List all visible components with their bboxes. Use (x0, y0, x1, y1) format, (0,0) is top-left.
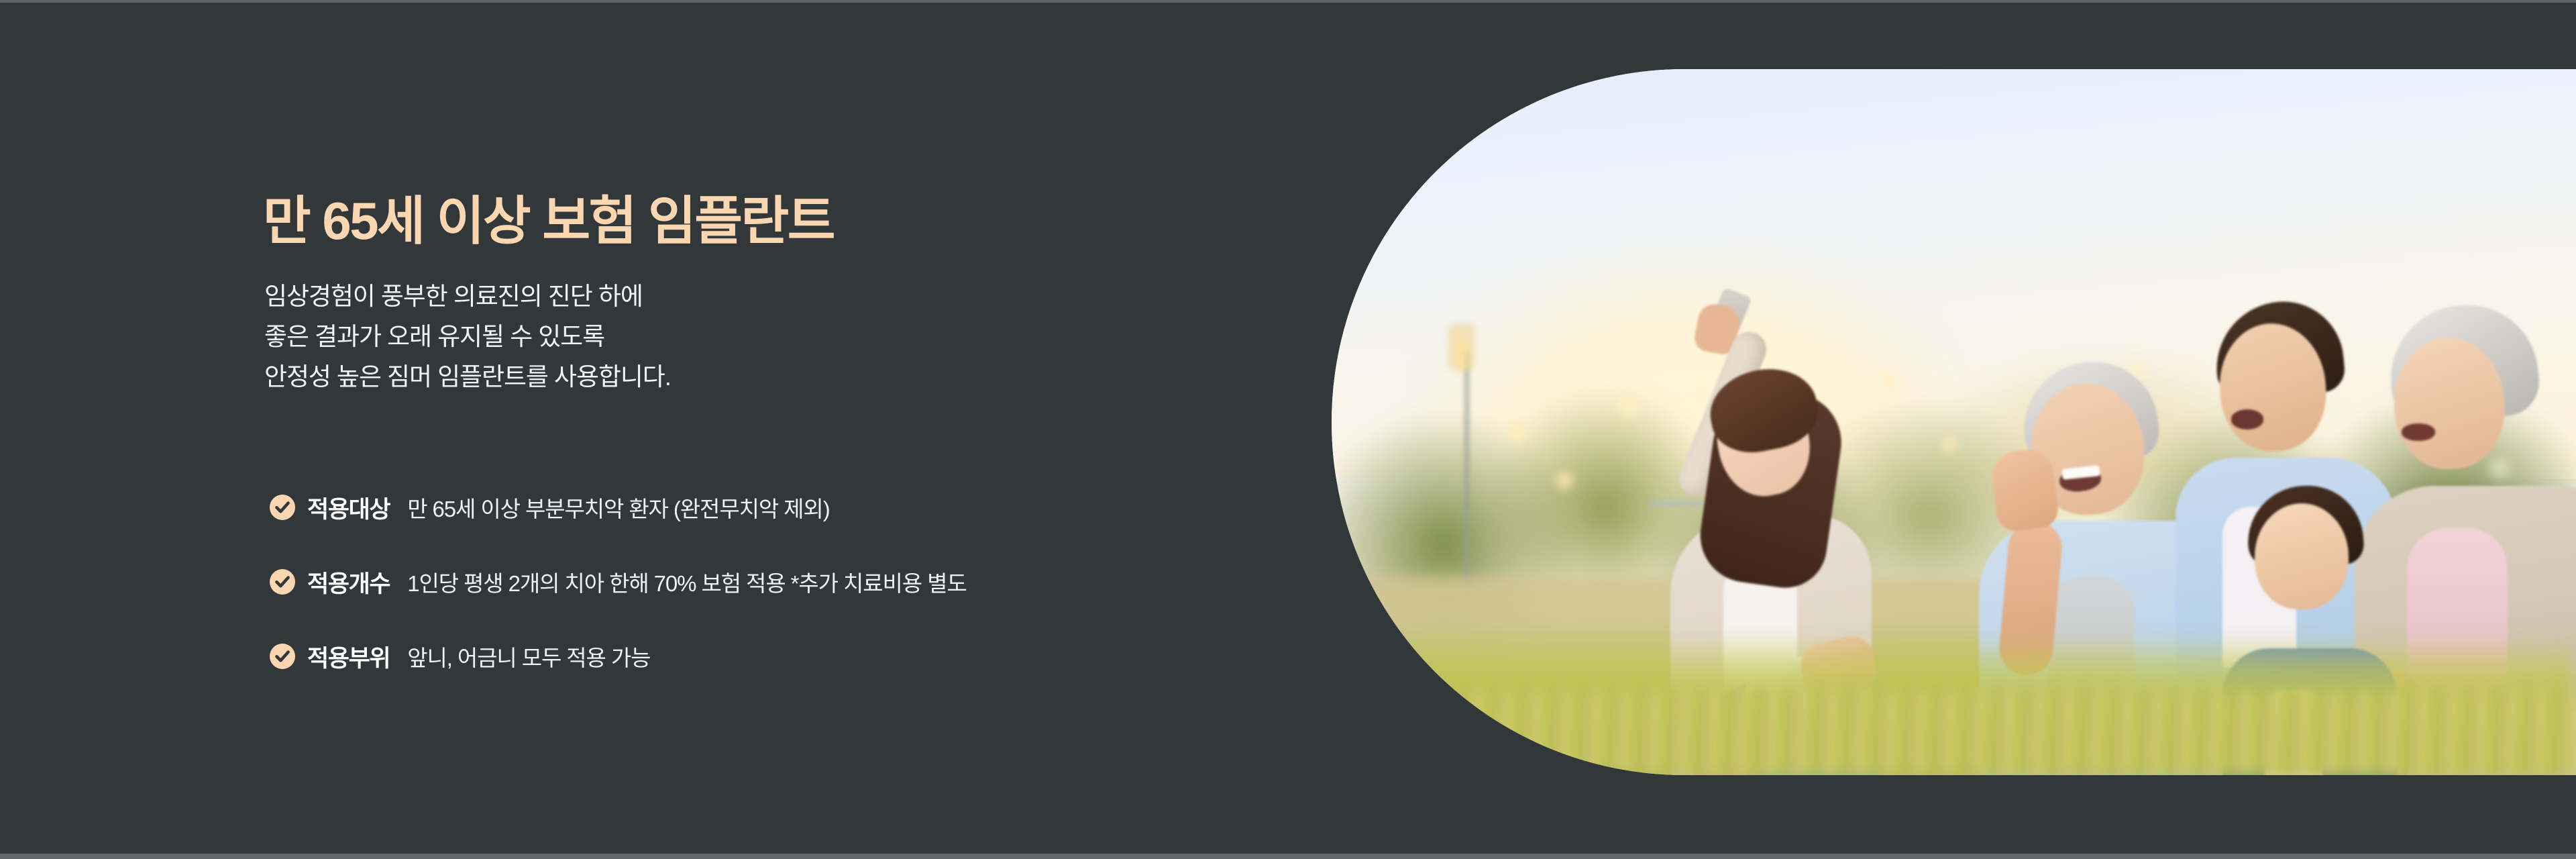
feature-value: 만 65세 이상 부분무치악 환자 (완전무치악 제외) (407, 491, 829, 523)
check-circle-icon (270, 569, 295, 595)
subtitle-block: 임상경험이 풍부한 의료진의 진단 하에 좋은 결과가 오래 유지될 수 있도록… (264, 276, 671, 397)
feature-item-count: 적용개수 1인당 평생 2개의 치아 한해 70% 보험 적용 *추가 치료비용… (270, 562, 967, 601)
grass-foreground (1332, 691, 2576, 775)
subtitle-line-3: 안정성 높은 짐머 임플란트를 사용합니다. (264, 357, 671, 397)
family-photo (1332, 69, 2576, 775)
bottom-edge-strip (0, 854, 2576, 859)
subtitle-line-1: 임상경험이 풍부한 의료진의 진단 하에 (264, 276, 671, 317)
feature-label: 적용부위 (307, 640, 390, 674)
feature-value: 앞니, 어금니 모두 적용 가능 (407, 640, 650, 672)
feature-label: 적용개수 (307, 565, 390, 599)
feature-item-target: 적용대상 만 65세 이상 부분무치악 환자 (완전무치악 제외) (270, 488, 967, 527)
page-title: 만 65세 이상 보험 임플란트 (263, 193, 834, 249)
feature-item-area: 적용부위 앞니, 어금니 모두 적용 가능 (270, 637, 967, 676)
subtitle-line-2: 좋은 결과가 오래 유지될 수 있도록 (264, 317, 671, 357)
insurance-implant-banner: 만 65세 이상 보험 임플란트 임상경험이 풍부한 의료진의 진단 하에 좋은… (0, 0, 2576, 859)
feature-label: 적용대상 (307, 491, 390, 525)
feature-value: 1인당 평생 2개의 치아 한해 70% 보험 적용 *추가 치료비용 별도 (407, 566, 966, 598)
top-edge-strip (0, 0, 2576, 3)
feature-list: 적용대상 만 65세 이상 부분무치악 환자 (완전무치악 제외) 적용개수 1… (270, 488, 967, 676)
photo-foreground (1332, 69, 2576, 775)
text-column: 만 65세 이상 보험 임플란트 임상경험이 풍부한 의료진의 진단 하에 좋은… (263, 0, 1269, 859)
check-circle-icon (270, 495, 295, 520)
check-circle-icon (270, 644, 295, 669)
